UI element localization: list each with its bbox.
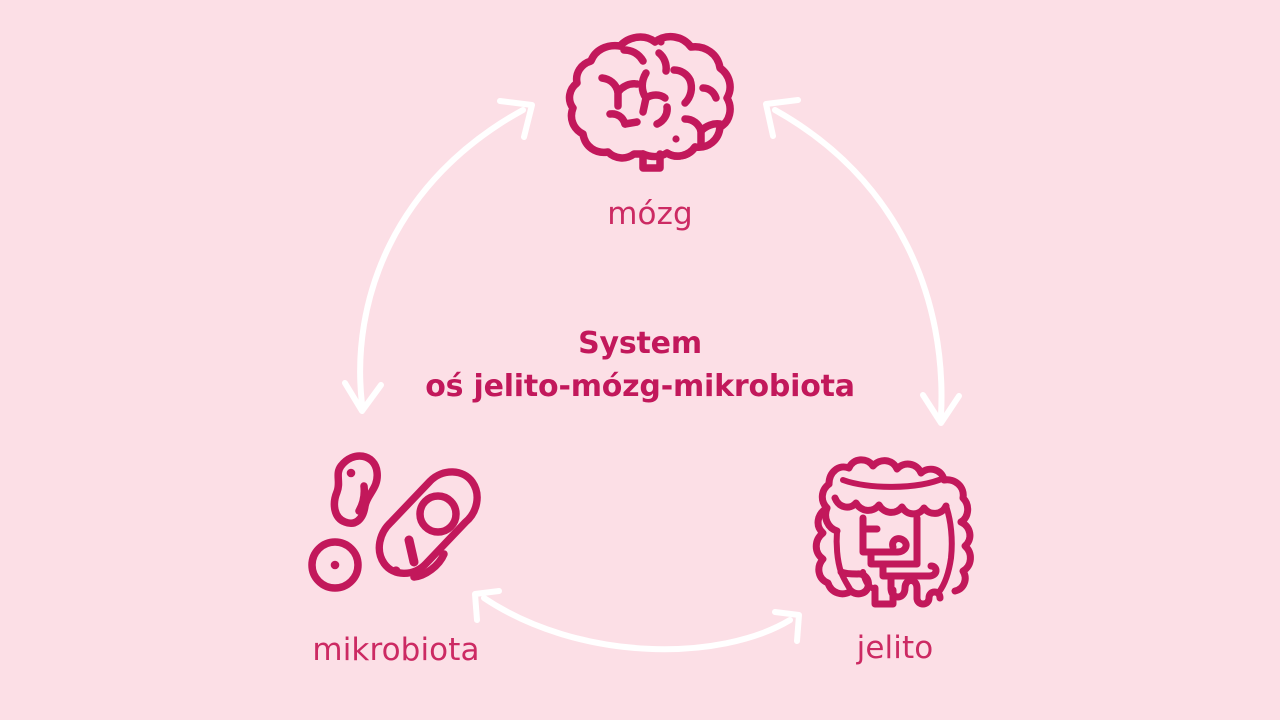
node-microbiota-label: mikrobiota bbox=[312, 635, 479, 666]
diagram-canvas: mózg bbox=[0, 0, 1280, 720]
arrow-bottom-shaft bbox=[484, 598, 790, 649]
node-gut[interactable]: jelito bbox=[795, 448, 995, 664]
arrow-gut-microbiota bbox=[475, 591, 799, 649]
node-microbiota[interactable]: mikrobiota bbox=[296, 438, 496, 666]
bacteria-icon bbox=[301, 438, 491, 613]
brain-icon bbox=[563, 26, 738, 181]
node-brain-label: mózg bbox=[607, 199, 693, 230]
node-gut-label: jelito bbox=[857, 633, 934, 664]
diagram-title: System oś jelito-mózg-mikrobiota bbox=[0, 322, 1280, 408]
intestine-icon bbox=[805, 448, 985, 613]
diagram-title-line-2: oś jelito-mózg-mikrobiota bbox=[0, 365, 1280, 408]
node-brain[interactable]: mózg bbox=[540, 26, 760, 230]
diagram-title-line-1: System bbox=[0, 322, 1280, 365]
